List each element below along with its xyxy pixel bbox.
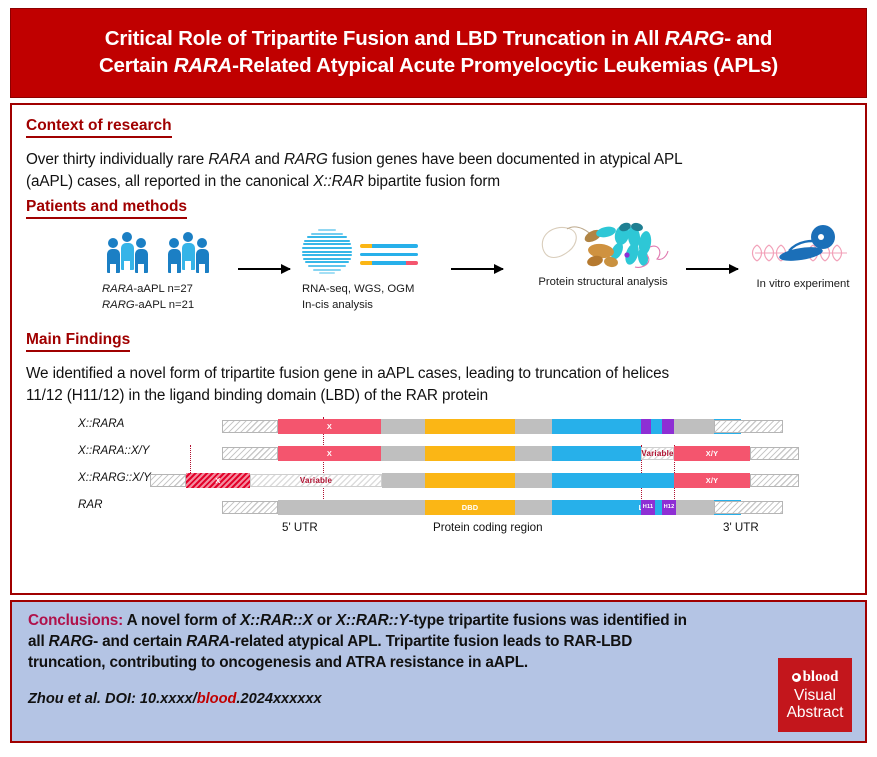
- gene-row-x-rara: X::RARA X: [30, 419, 847, 434]
- gene-row-label: X::RARA::X/Y: [78, 444, 208, 457]
- segment-gray: [676, 500, 714, 515]
- segment-utr3: [714, 420, 783, 433]
- title-gene-rara: RARA: [174, 54, 232, 77]
- citation-prefix: Zhou et al. DOI: 10.xxxx/: [28, 691, 197, 707]
- patients-rarg-count: -aAPL n=21: [135, 299, 195, 311]
- segment-gray: [515, 473, 552, 488]
- segment-partner-x: X: [186, 473, 250, 488]
- method-caption-patients: RARA-aAPL n=27 RARG-aAPL n=21: [88, 282, 238, 313]
- dna-experiment-icon: [751, 225, 855, 273]
- findings-paragraph: We identified a novel form of tripartite…: [26, 363, 851, 406]
- conclusions-box: Conclusions: A novel form of X::RAR::X o…: [10, 600, 867, 743]
- method-step-protein: Protein structural analysis: [513, 221, 693, 290]
- gene-row-label: X::RARA: [78, 417, 208, 430]
- blood-wordmark: blood: [792, 670, 839, 685]
- protein-structure-icon: [537, 221, 669, 271]
- segment-dbd: [425, 419, 515, 434]
- flow-arrow-1: [238, 268, 290, 270]
- axis-label-3utr: 3' UTR: [723, 521, 759, 534]
- citation-suffix: .2024xxxxxx: [236, 691, 321, 707]
- segment-utr5: [150, 474, 186, 487]
- method-caption-protein: Protein structural analysis: [513, 275, 693, 290]
- method-step-sequencing: RNA-seq, WGS, OGM In-cis analysis: [302, 225, 452, 313]
- gene-row-label: RAR: [78, 498, 208, 511]
- flow-arrow-3: [686, 268, 738, 270]
- axis-label-coding: Protein coding region: [433, 521, 543, 534]
- segment-variable: Variable: [641, 447, 674, 460]
- conclusions-label: Conclusions:: [28, 612, 123, 629]
- segment-utr3: [714, 501, 783, 514]
- page-title: Critical Role of Tripartite Fusion and L…: [99, 26, 778, 79]
- segment-gray: [381, 419, 425, 434]
- logo-line-abstract: Abstract: [787, 705, 844, 721]
- segment-gray: [515, 500, 552, 515]
- sequencing-icon: [302, 225, 420, 273]
- segment-partner-xy: X/Y: [674, 473, 750, 488]
- segment-gray: [515, 419, 552, 434]
- segment-utr5: [222, 501, 278, 514]
- segment-dbd: [425, 473, 515, 488]
- segment-h12: H12: [662, 500, 676, 515]
- segment-gray: [381, 446, 425, 461]
- gene-structure-diagram: X::RARA X X::RARA::X/Y: [30, 413, 847, 533]
- section-heading-context: Context of research: [26, 117, 172, 138]
- segment-h12: [662, 419, 674, 434]
- segment-variable: Variable: [250, 474, 382, 487]
- segment-gray: [674, 419, 714, 434]
- segment-utr5: [222, 420, 278, 433]
- segment-h11: H11: [641, 500, 655, 515]
- title-line1-part3: - and: [724, 27, 772, 50]
- segment-partner-x: X: [278, 446, 381, 461]
- segment-gray: [278, 500, 425, 515]
- citation: Zhou et al. DOI: 10.xxxx/blood.2024xxxxx…: [28, 691, 322, 707]
- segment-utr3: [750, 447, 799, 460]
- segment-dbd: [425, 446, 515, 461]
- context-paragraph: Over thirty individually rare RARA and R…: [26, 149, 851, 192]
- title-line1-part1: Critical Role of Tripartite Fusion and L…: [105, 27, 665, 50]
- segment-lbd-truncated: [552, 473, 674, 488]
- method-caption-invitro: In vitro experiment: [738, 277, 868, 292]
- patients-rara-count: -aAPL n=27: [133, 283, 193, 295]
- axis-label-5utr: 5' UTR: [282, 521, 318, 534]
- conclusions-paragraph: Conclusions: A novel form of X::RAR::X o…: [28, 611, 849, 674]
- blood-visual-abstract-logo: blood Visual Abstract: [778, 658, 852, 732]
- segment-dbd: DBD: [425, 500, 515, 515]
- segment-gray: [515, 446, 552, 461]
- title-line2-part1: Certain: [99, 54, 174, 77]
- citation-journal: blood: [197, 691, 237, 707]
- segment-gray: [382, 473, 425, 488]
- title-gene-rarg: RARG: [665, 27, 725, 50]
- segment-partner-xy: X/Y: [674, 446, 750, 461]
- main-content-box: Context of research Over thirty individu…: [10, 103, 867, 595]
- segment-utr3: [750, 474, 799, 487]
- gene-row-x-rara-xy: X::RARA::X/Y X Variable X/Y: [30, 446, 847, 461]
- title-line2-part3: -Related Atypical Acute Promyelocytic Le…: [232, 54, 778, 77]
- logo-line-visual: Visual: [794, 688, 836, 704]
- segment-lbd-truncated: [552, 446, 641, 461]
- methods-flow: RARA-aAPL n=27 RARG-aAPL n=21: [26, 225, 851, 329]
- visual-abstract-page: Critical Role of Tripartite Fusion and L…: [0, 0, 877, 757]
- patient-group-icon: [88, 225, 238, 273]
- segment-utr5: [222, 447, 278, 460]
- flow-arrow-2: [451, 268, 503, 270]
- segment-partner-x: X: [278, 419, 381, 434]
- method-caption-sequencing: RNA-seq, WGS, OGM In-cis analysis: [302, 282, 452, 313]
- section-heading-methods: Patients and methods: [26, 198, 187, 219]
- gene-row-rar-reference: RAR DBD LBD H11 H12: [30, 500, 847, 515]
- gene-row-x-rarg-xy: X::RARG::X/Y X Variable X/Y: [30, 473, 847, 488]
- method-step-invitro: In vitro experiment: [738, 225, 868, 292]
- title-banner: Critical Role of Tripartite Fusion and L…: [10, 8, 867, 98]
- segment-h11: [641, 419, 651, 434]
- method-step-patients: RARA-aAPL n=27 RARG-aAPL n=21: [88, 225, 238, 313]
- blood-drop-icon: [792, 673, 801, 682]
- section-heading-findings: Main Findings: [26, 331, 130, 352]
